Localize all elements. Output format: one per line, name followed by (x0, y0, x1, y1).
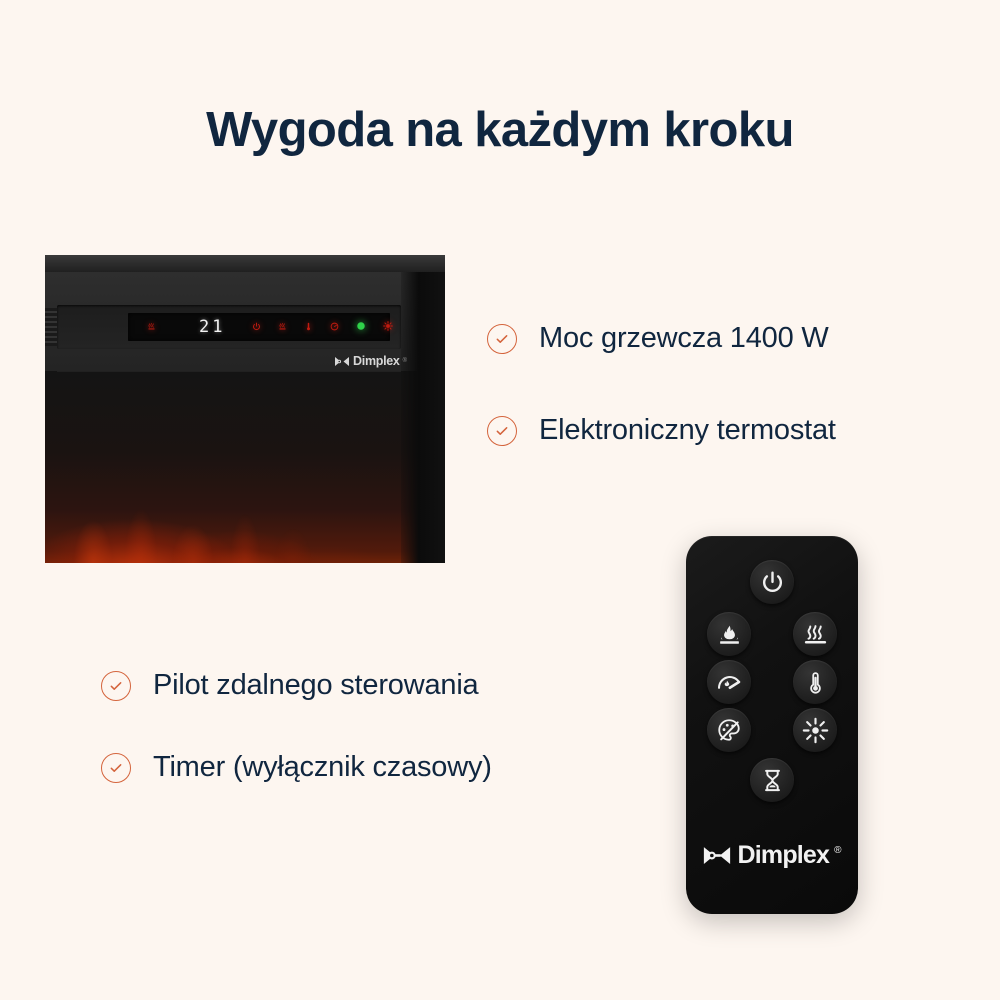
remote-timer-button[interactable] (750, 758, 794, 802)
flame-speed-gauge-icon (716, 669, 742, 695)
remote-brand-logo: Dimplex ® (686, 841, 858, 870)
page-title: Wygoda na każdym kroku (0, 104, 1000, 158)
display-thermometer-icon (304, 322, 313, 333)
display-power-icon (252, 322, 261, 333)
remote-brand-superscript: ® (834, 845, 841, 856)
feature-label: Timer (wyłącznik czasowy) (153, 751, 492, 784)
fireplace-vent-grille (45, 308, 57, 346)
remote-control: Dimplex ® (686, 536, 858, 914)
feature-label: Moc grzewcza 1400 W (539, 322, 829, 355)
remote-heater-button[interactable] (793, 612, 837, 656)
check-circle-icon (101, 753, 131, 783)
check-circle-icon (487, 416, 517, 446)
remote-thermostat-button[interactable] (793, 660, 837, 704)
remote-brightness-button[interactable] (793, 708, 837, 752)
display-flame-color-icon (356, 321, 366, 333)
remote-flame-color-button[interactable] (707, 708, 751, 752)
dimplex-mark-icon (702, 845, 732, 866)
feature-item: Elektroniczny termostat (487, 414, 836, 447)
fireplace-control-facia: 21 (45, 272, 445, 371)
remote-brand-name: Dimplex (737, 841, 829, 870)
thermometer-icon (803, 670, 828, 695)
display-heat-icon (278, 322, 287, 333)
remote-flame-button[interactable] (707, 612, 751, 656)
check-circle-icon (101, 671, 131, 701)
brightness-sun-icon (802, 717, 829, 744)
fireplace-top-bar (45, 255, 445, 272)
power-icon (760, 570, 785, 595)
hourglass-icon (760, 768, 785, 793)
fireplace-led-display: 21 (128, 313, 390, 341)
feature-label: Elektroniczny termostat (539, 414, 836, 447)
remote-power-button[interactable] (750, 560, 794, 604)
feature-item: Moc grzewcza 1400 W (487, 322, 829, 355)
feature-item: Timer (wyłącznik czasowy) (101, 751, 492, 784)
color-palette-icon (716, 717, 742, 743)
remote-flame-speed-button[interactable] (707, 660, 751, 704)
fireplace-product-image: 21 (45, 255, 445, 563)
display-fan-speed-icon (330, 322, 339, 333)
flame-effect (45, 443, 445, 563)
display-heater-icon (147, 322, 156, 333)
heat-waves-icon (803, 622, 828, 647)
feature-label: Pilot zdalnego sterowania (153, 669, 478, 702)
fireplace-brand-name: Dimplex (353, 354, 400, 368)
flame-icon (717, 622, 742, 647)
check-circle-icon (487, 324, 517, 354)
display-brightness-icon (383, 321, 393, 333)
dimplex-mark-icon (334, 356, 350, 367)
fireplace-firebox (45, 371, 445, 563)
fireplace-brand-logo: Dimplex ® (334, 354, 407, 368)
feature-item: Pilot zdalnego sterowania (101, 669, 478, 702)
display-temperature-value: 21 (199, 317, 225, 337)
display-indicator-row (252, 321, 393, 333)
fireplace-right-edge (401, 272, 445, 563)
